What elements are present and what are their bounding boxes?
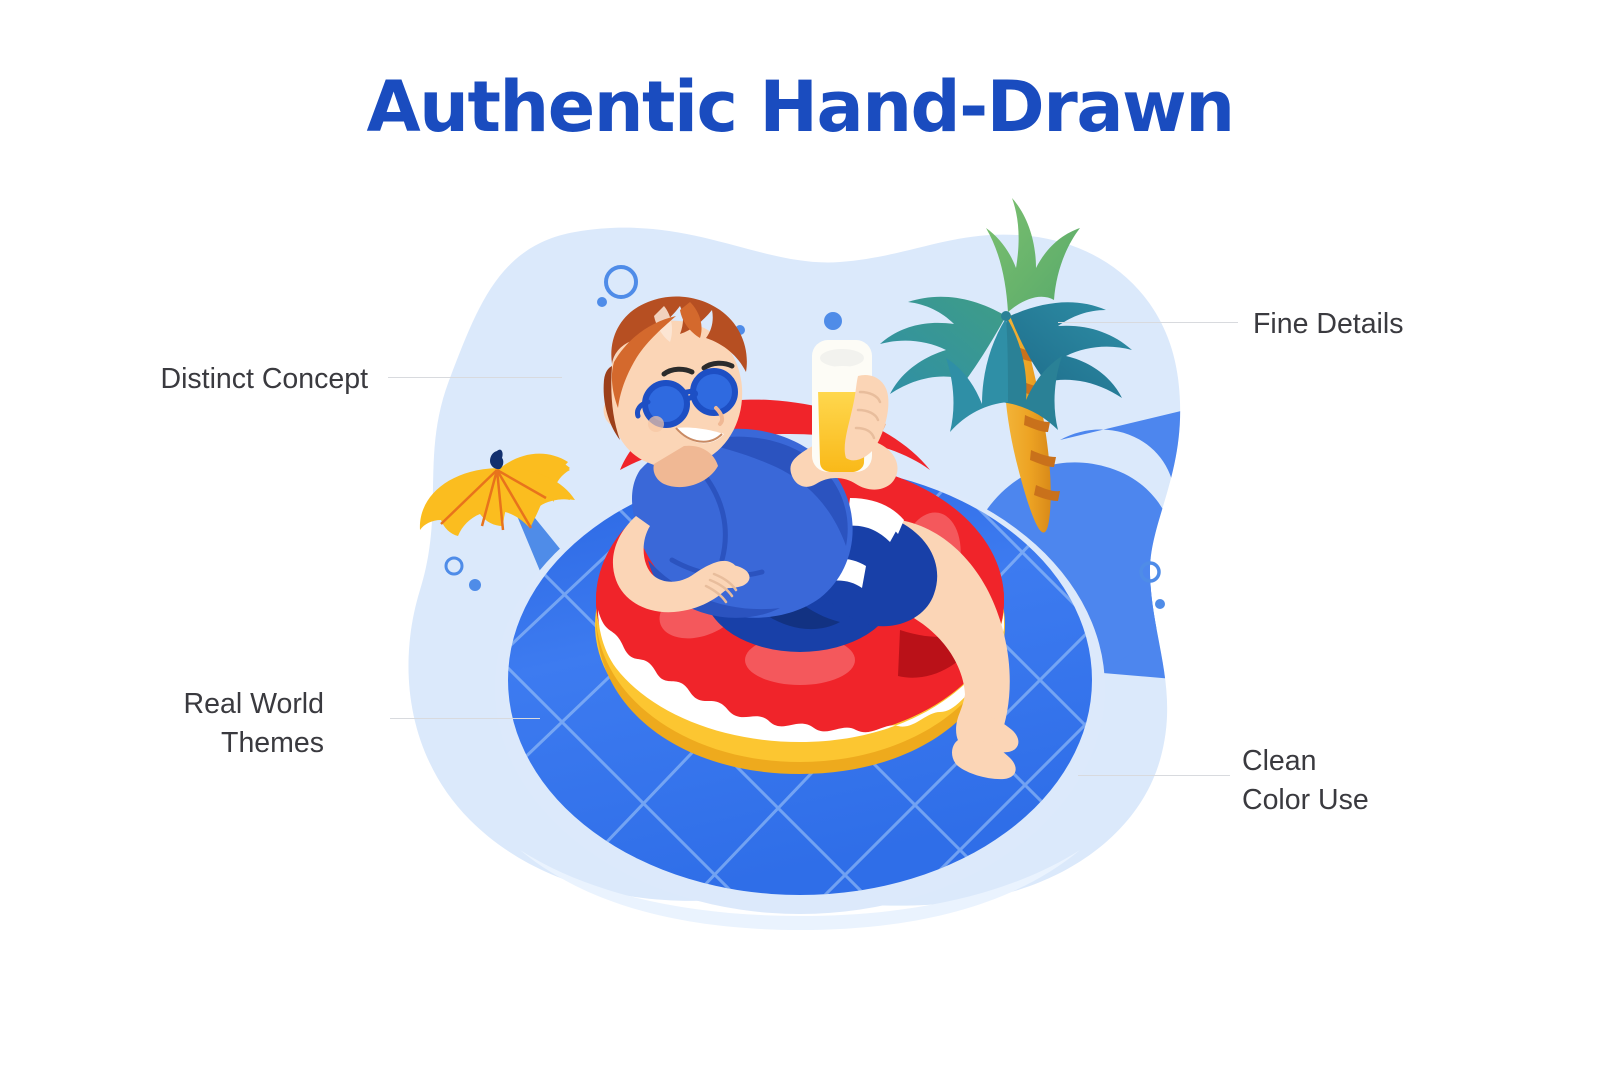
swimming-pool xyxy=(395,418,1210,930)
pool-float-illustration xyxy=(0,0,1600,1067)
water-wave xyxy=(800,410,1185,900)
callout-label-fine-details: Fine Details xyxy=(1253,305,1573,344)
man-character xyxy=(604,296,1019,779)
callout-leader-clean-color-use xyxy=(1078,775,1230,776)
beach-umbrella xyxy=(420,450,575,571)
bubbles xyxy=(446,267,1165,609)
pool-grid-lines xyxy=(395,418,1210,920)
callout-leader-distinct-concept xyxy=(388,377,562,378)
callout-label-clean-color-use: Clean Color Use xyxy=(1242,742,1562,820)
palm-fronds xyxy=(880,198,1132,432)
palm-tree xyxy=(880,198,1132,533)
donut-float xyxy=(595,412,1005,774)
callout-leader-real-world-themes xyxy=(390,718,540,719)
beer-glass xyxy=(812,340,888,472)
background-blob xyxy=(408,228,1180,906)
sunglasses xyxy=(637,371,735,425)
callout-label-real-world-themes: Real World Themes xyxy=(0,685,324,763)
page-title: Authentic Hand-Drawn xyxy=(0,72,1600,142)
callout-label-distinct-concept: Distinct Concept xyxy=(38,360,368,399)
illustration-page: Authentic Hand-Drawn xyxy=(0,0,1600,1067)
callout-leader-fine-details xyxy=(1058,322,1238,323)
